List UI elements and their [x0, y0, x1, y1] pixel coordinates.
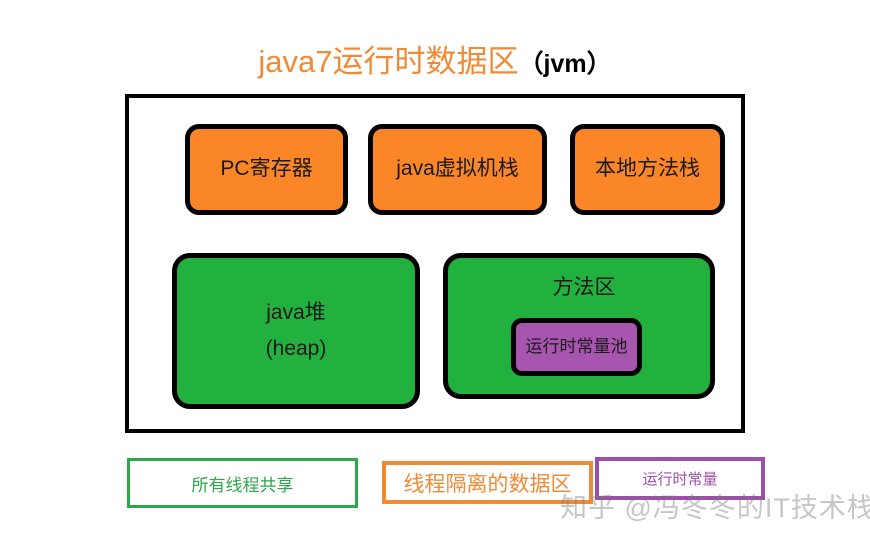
- legend-runtime-constant-pool-label: 运行时常量: [642, 468, 717, 489]
- legend-thread-isolated-data-area: 线程隔离的数据区: [382, 461, 593, 504]
- region-native-method-stack-label: 本地方法栈: [595, 156, 700, 182]
- region-runtime-constant-pool[interactable]: 运行时常量池: [511, 318, 642, 376]
- region-method-area-label: 方法区: [448, 275, 720, 301]
- region-java-heap-label-line2: (heap): [266, 336, 327, 362]
- legend-shared-by-all-threads-label: 所有线程共享: [192, 471, 294, 496]
- page-title: java7运行时数据区（jvm）: [0, 36, 870, 81]
- region-native-method-stack[interactable]: 本地方法栈: [570, 124, 725, 215]
- region-jvm-stack[interactable]: java虚拟机栈: [368, 124, 547, 215]
- region-runtime-constant-pool-label: 运行时常量池: [526, 336, 628, 357]
- region-jvm-stack-label: java虚拟机栈: [396, 156, 519, 182]
- legend-runtime-constant-pool: 运行时常量: [595, 457, 765, 500]
- region-java-heap-label: java堆 (heap): [266, 300, 327, 363]
- page-title-main: java7运行时数据区: [258, 44, 518, 79]
- region-pc-register[interactable]: PC寄存器: [185, 124, 348, 215]
- diagram-canvas: java7运行时数据区（jvm） PC寄存器 java虚拟机栈 本地方法栈 ja…: [0, 0, 870, 537]
- region-pc-register-label: PC寄存器: [220, 156, 312, 182]
- legend-shared-by-all-threads: 所有线程共享: [127, 458, 358, 508]
- page-title-sub: （jvm）: [519, 50, 612, 78]
- region-java-heap[interactable]: java堆 (heap): [172, 253, 420, 409]
- region-java-heap-label-line1: java堆: [266, 300, 327, 326]
- legend-thread-isolated-data-area-label: 线程隔离的数据区: [404, 468, 572, 498]
